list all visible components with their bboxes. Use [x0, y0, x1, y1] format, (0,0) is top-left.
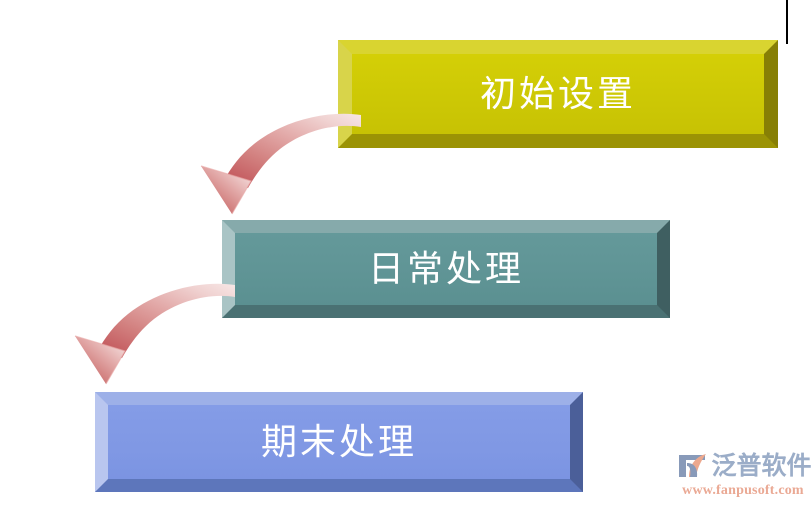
- flow-node-label: 初始设置: [480, 76, 636, 112]
- watermark: 泛普软件 www.fanpusoft.com: [676, 449, 810, 507]
- flow-node-period-end-processing[interactable]: 期末处理: [95, 392, 583, 492]
- flow-arrow-daily-processing-to-period-end: [62, 278, 237, 386]
- arrow-tail: [98, 284, 235, 358]
- arrow-head: [75, 336, 125, 384]
- flow-node-label: 日常处理: [368, 251, 524, 287]
- text-caret: [786, 0, 788, 44]
- fanpusoft-logo-icon: [675, 451, 709, 481]
- flow-arrow-initial-setup-to-daily-processing: [188, 108, 363, 216]
- arrow-head-highlight: [201, 166, 251, 214]
- node-face: 日常处理: [235, 233, 657, 305]
- watermark-url: www.fanpusoft.com: [682, 484, 804, 498]
- flow-node-label: 期末处理: [261, 424, 417, 460]
- arrow-head: [201, 166, 251, 214]
- flow-node-initial-setup[interactable]: 初始设置: [338, 40, 778, 148]
- watermark-brand-name: 泛普软件: [712, 454, 812, 479]
- diagram-canvas: 初始设置 日常处理: [0, 0, 812, 512]
- flow-node-daily-processing[interactable]: 日常处理: [222, 220, 670, 318]
- node-face: 初始设置: [352, 54, 764, 134]
- watermark-row: 泛普软件: [675, 449, 812, 483]
- node-face: 期末处理: [108, 405, 570, 479]
- arrow-head-highlight: [75, 336, 125, 384]
